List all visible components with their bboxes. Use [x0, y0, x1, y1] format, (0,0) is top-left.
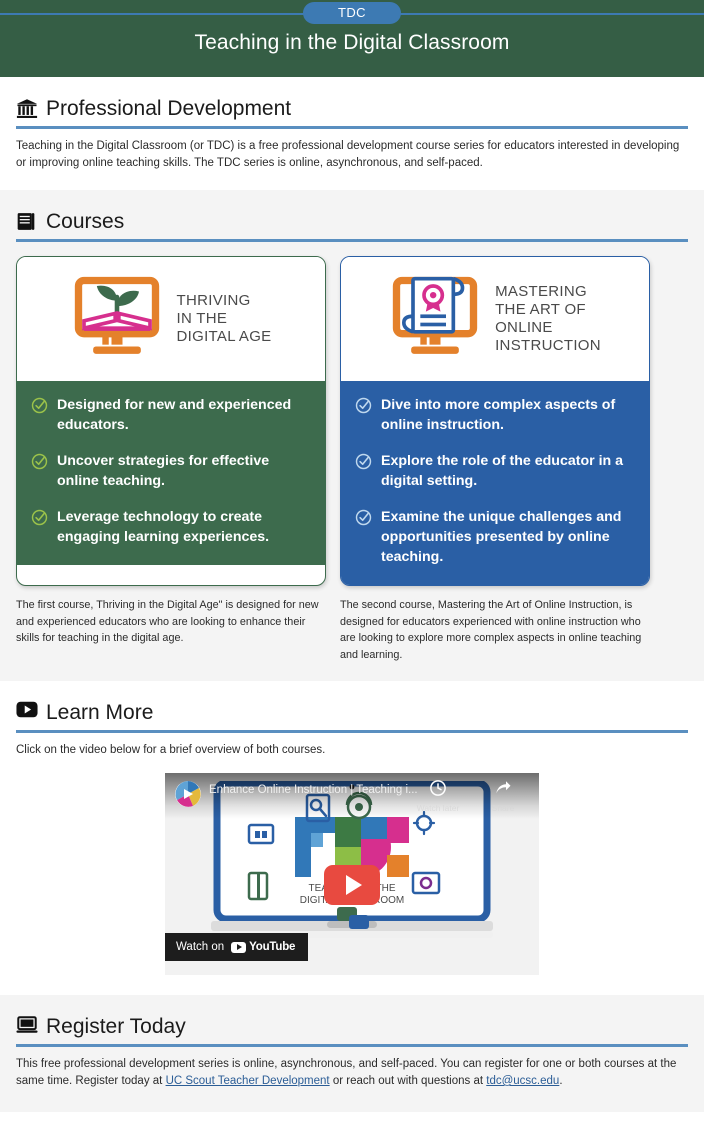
youtube-play-box	[231, 942, 246, 953]
course-bullet-text: Examine the unique challenges and opport…	[381, 507, 633, 567]
thriving-in-the-digital-age-logo-icon	[71, 275, 163, 363]
check-circle-icon	[355, 397, 372, 414]
section-title: Learn More	[46, 701, 153, 725]
section-header: Register Today	[16, 995, 688, 1039]
professional-development-paragraph: Teaching in the Digital Classroom (or TD…	[16, 138, 688, 172]
course-logo-text: THRIVING IN THE DIGITAL AGE	[177, 292, 272, 346]
section-divider	[16, 126, 688, 129]
section-title: Professional Development	[46, 97, 291, 121]
course-card-thriving[interactable]: THRIVING IN THE DIGITAL AGE Design	[16, 256, 326, 586]
uc-scout-teacher-development-link[interactable]: UC Scout Teacher Development	[166, 1075, 330, 1087]
logo-line: IN THE	[177, 310, 228, 327]
section-title: Register Today	[46, 1015, 186, 1039]
course-bullet-text: Leverage technology to create engaging l…	[57, 507, 309, 547]
course-bullet-text: Explore the role of the educator in a di…	[381, 451, 633, 491]
book-icon	[16, 210, 38, 234]
course-card-header: THRIVING IN THE DIGITAL AGE	[17, 257, 325, 381]
register-text-part3: .	[559, 1075, 562, 1087]
section-courses: Courses	[0, 190, 704, 681]
mastering-the-art-of-online-instruction-logo-icon	[389, 275, 481, 363]
watch-on-label: Watch on	[176, 941, 224, 953]
logo-line: THE ART OF	[495, 301, 586, 318]
share-button[interactable]: Share	[479, 779, 527, 813]
course-note: The first course, Thriving in the Digita…	[16, 597, 326, 663]
course-bullet-text: Dive into more complex aspects of online…	[381, 395, 633, 435]
check-circle-icon	[355, 509, 372, 526]
section-divider	[16, 730, 688, 733]
video-player-embed[interactable]: TEACHING IN THE DIGITAL CLASSROOM	[165, 773, 539, 975]
section-learn-more: Learn More Click on the video below for …	[0, 681, 704, 995]
youtube-play-triangle	[237, 944, 242, 950]
course-bullet: Designed for new and experienced educato…	[31, 395, 309, 435]
play-button[interactable]	[324, 865, 380, 905]
youtube-play-icon	[16, 701, 38, 725]
course-card-list: THRIVING IN THE DIGITAL AGE Design	[16, 251, 688, 586]
page-root: TDC Teaching in the Digital Classroom Pr…	[0, 0, 704, 1124]
section-register-today: Register Today This free professional de…	[0, 995, 704, 1112]
register-text-part2: or reach out with questions at	[330, 1075, 487, 1087]
course-bullet: Explore the role of the educator in a di…	[355, 451, 633, 491]
check-circle-icon	[355, 453, 372, 470]
section-title: Courses	[46, 210, 124, 234]
watch-later-label: Watch later	[409, 803, 467, 813]
course-card-bullets: Dive into more complex aspects of online…	[341, 381, 649, 585]
course-card-header: MASTERING THE ART OF ONLINE INSTRUCTION	[341, 257, 649, 381]
course-bullet: Dive into more complex aspects of online…	[355, 395, 633, 435]
course-bullet-text: Designed for new and experienced educato…	[57, 395, 309, 435]
course-bullet: Uncover strategies for effective online …	[31, 451, 309, 491]
watch-on-youtube-button[interactable]: Watch on YouTube	[165, 933, 308, 961]
course-bullet-text: Uncover strategies for effective online …	[57, 451, 309, 491]
share-label: Share	[479, 803, 527, 813]
check-circle-icon	[31, 397, 48, 414]
watch-later-button[interactable]: Watch later	[409, 779, 467, 813]
classical-building-icon	[16, 97, 38, 121]
section-divider	[16, 1044, 688, 1047]
course-notes: The first course, Thriving in the Digita…	[16, 586, 688, 681]
course-card-mastering[interactable]: MASTERING THE ART OF ONLINE INSTRUCTION	[340, 256, 650, 586]
check-circle-icon	[31, 453, 48, 470]
section-header: Learn More	[16, 681, 688, 725]
course-logo-text: MASTERING THE ART OF ONLINE INSTRUCTION	[495, 283, 601, 355]
logo-line: DIGITAL AGE	[177, 328, 272, 345]
play-triangle-icon	[346, 875, 362, 895]
check-circle-icon	[31, 509, 48, 526]
course-bullet: Examine the unique challenges and opport…	[355, 507, 633, 567]
logo-line: INSTRUCTION	[495, 337, 601, 354]
channel-avatar[interactable]	[175, 781, 201, 807]
tdc-email-link[interactable]: tdc@ucsc.edu	[486, 1075, 559, 1087]
section-professional-development: Professional Development Teaching in the…	[0, 77, 704, 190]
logo-line: ONLINE	[495, 319, 553, 336]
laptop-icon	[16, 1015, 38, 1039]
video-title[interactable]: Enhance Online Instruction | Teaching i.…	[209, 784, 418, 796]
youtube-logo-icon: YouTube	[231, 941, 295, 953]
logo-line: THRIVING	[177, 292, 251, 309]
learn-more-paragraph: Click on the video below for a brief ove…	[16, 742, 688, 759]
page-title: Teaching in the Digital Classroom	[0, 31, 704, 55]
logo-line: MASTERING	[495, 283, 587, 300]
page-header: TDC Teaching in the Digital Classroom	[0, 0, 704, 77]
course-card-bullets: Designed for new and experienced educato…	[17, 381, 325, 565]
course-bullet: Leverage technology to create engaging l…	[31, 507, 309, 547]
section-header: Courses	[16, 190, 688, 234]
tdc-badge: TDC	[303, 2, 401, 24]
section-divider	[16, 239, 688, 242]
register-today-paragraph: This free professional development serie…	[16, 1056, 688, 1090]
course-note: The second course, Mastering the Art of …	[340, 597, 650, 663]
youtube-wordmark: YouTube	[249, 941, 295, 953]
section-header: Professional Development	[16, 77, 688, 121]
